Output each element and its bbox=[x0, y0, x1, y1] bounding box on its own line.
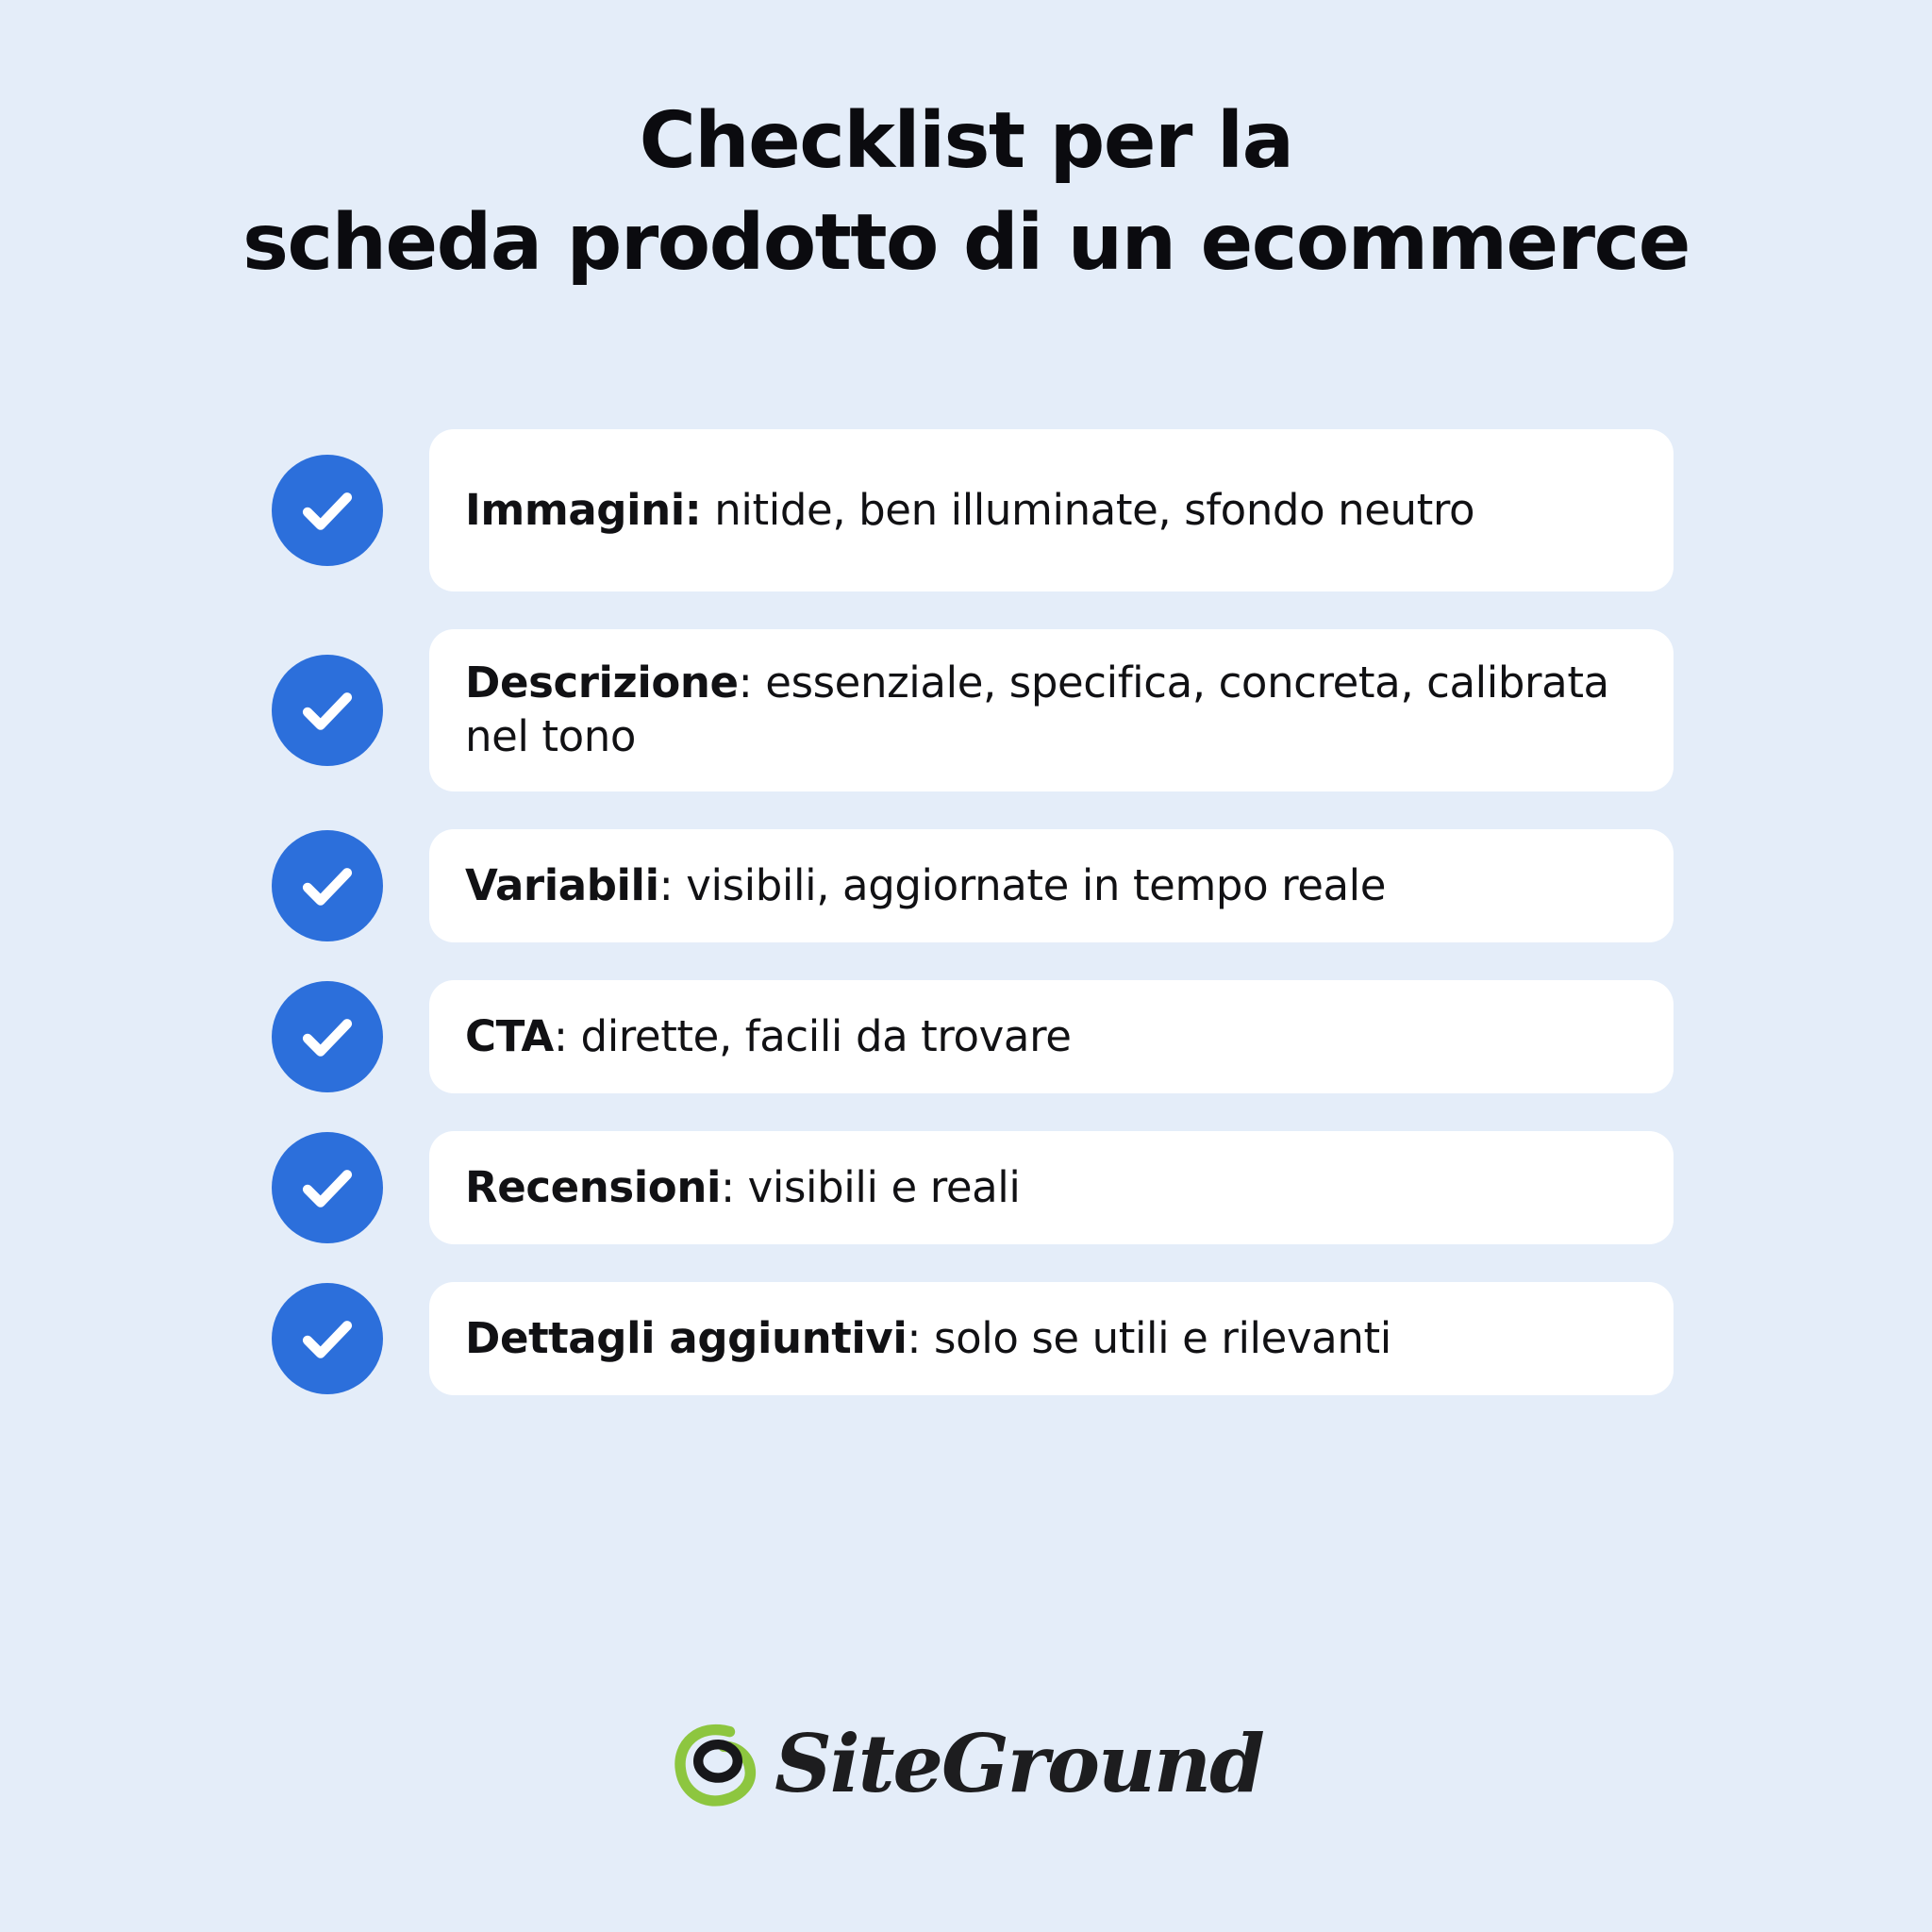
checklist-detail: : dirette, facili da trovare bbox=[554, 1011, 1072, 1061]
checklist-card: Recensioni: visibili e reali bbox=[429, 1131, 1674, 1244]
check-circle-icon bbox=[272, 981, 383, 1092]
checklist-item: Variabili: visibili, aggiornate in tempo… bbox=[272, 829, 1674, 942]
checklist-label: Recensioni bbox=[465, 1162, 721, 1212]
checklist: Immagini: nitide, ben illuminate, sfondo… bbox=[272, 429, 1674, 1433]
checklist-item: Dettagli aggiuntivi: solo se utili e ril… bbox=[272, 1282, 1674, 1395]
check-circle-icon bbox=[272, 830, 383, 941]
checklist-text: Descrizione: essenziale, specifica, conc… bbox=[465, 657, 1632, 763]
checklist-label: Immagini: bbox=[465, 485, 701, 535]
checklist-text: Variabili: visibili, aggiornate in tempo… bbox=[465, 859, 1386, 913]
checklist-card: Descrizione: essenziale, specifica, conc… bbox=[429, 629, 1674, 791]
checklist-item: Immagini: nitide, ben illuminate, sfondo… bbox=[272, 429, 1674, 591]
checklist-detail: nitide, ben illuminate, sfondo neutro bbox=[701, 485, 1474, 535]
checklist-card: Variabili: visibili, aggiornate in tempo… bbox=[429, 829, 1674, 942]
page-title: Checklist per la scheda prodotto di un e… bbox=[0, 91, 1932, 294]
infographic-page: Checklist per la scheda prodotto di un e… bbox=[0, 0, 1932, 1932]
checklist-detail: : visibili, aggiornate in tempo reale bbox=[659, 860, 1386, 910]
checklist-card: Immagini: nitide, ben illuminate, sfondo… bbox=[429, 429, 1674, 591]
checklist-item: Descrizione: essenziale, specifica, conc… bbox=[272, 629, 1674, 791]
checklist-label: CTA bbox=[465, 1011, 554, 1061]
checklist-detail: : solo se utili e rilevanti bbox=[907, 1313, 1391, 1363]
check-circle-icon bbox=[272, 655, 383, 766]
checklist-text: Immagini: nitide, ben illuminate, sfondo… bbox=[465, 484, 1474, 538]
checklist-detail: : visibili e reali bbox=[721, 1162, 1021, 1212]
checklist-card: CTA: dirette, facili da trovare bbox=[429, 980, 1674, 1093]
checklist-label: Descrizione bbox=[465, 658, 739, 708]
checklist-card: Dettagli aggiuntivi: solo se utili e ril… bbox=[429, 1282, 1674, 1395]
checklist-text: Dettagli aggiuntivi: solo se utili e ril… bbox=[465, 1312, 1391, 1366]
checklist-text: Recensioni: visibili e reali bbox=[465, 1161, 1021, 1215]
checklist-item: Recensioni: visibili e reali bbox=[272, 1131, 1674, 1244]
check-circle-icon bbox=[272, 1283, 383, 1394]
brand-name: SiteGround bbox=[774, 1724, 1263, 1804]
checklist-label: Variabili bbox=[465, 860, 659, 910]
title-line-1: Checklist per la bbox=[0, 91, 1932, 192]
check-circle-icon bbox=[272, 1132, 383, 1243]
checklist-label: Dettagli aggiuntivi bbox=[465, 1313, 907, 1363]
footer-brand: SiteGround bbox=[0, 1715, 1932, 1813]
check-circle-icon bbox=[272, 455, 383, 566]
checklist-text: CTA: dirette, facili da trovare bbox=[465, 1010, 1071, 1064]
checklist-item: CTA: dirette, facili da trovare bbox=[272, 980, 1674, 1093]
siteground-swirl-logo bbox=[669, 1715, 767, 1813]
title-line-2: scheda prodotto di un ecommerce bbox=[0, 192, 1932, 294]
